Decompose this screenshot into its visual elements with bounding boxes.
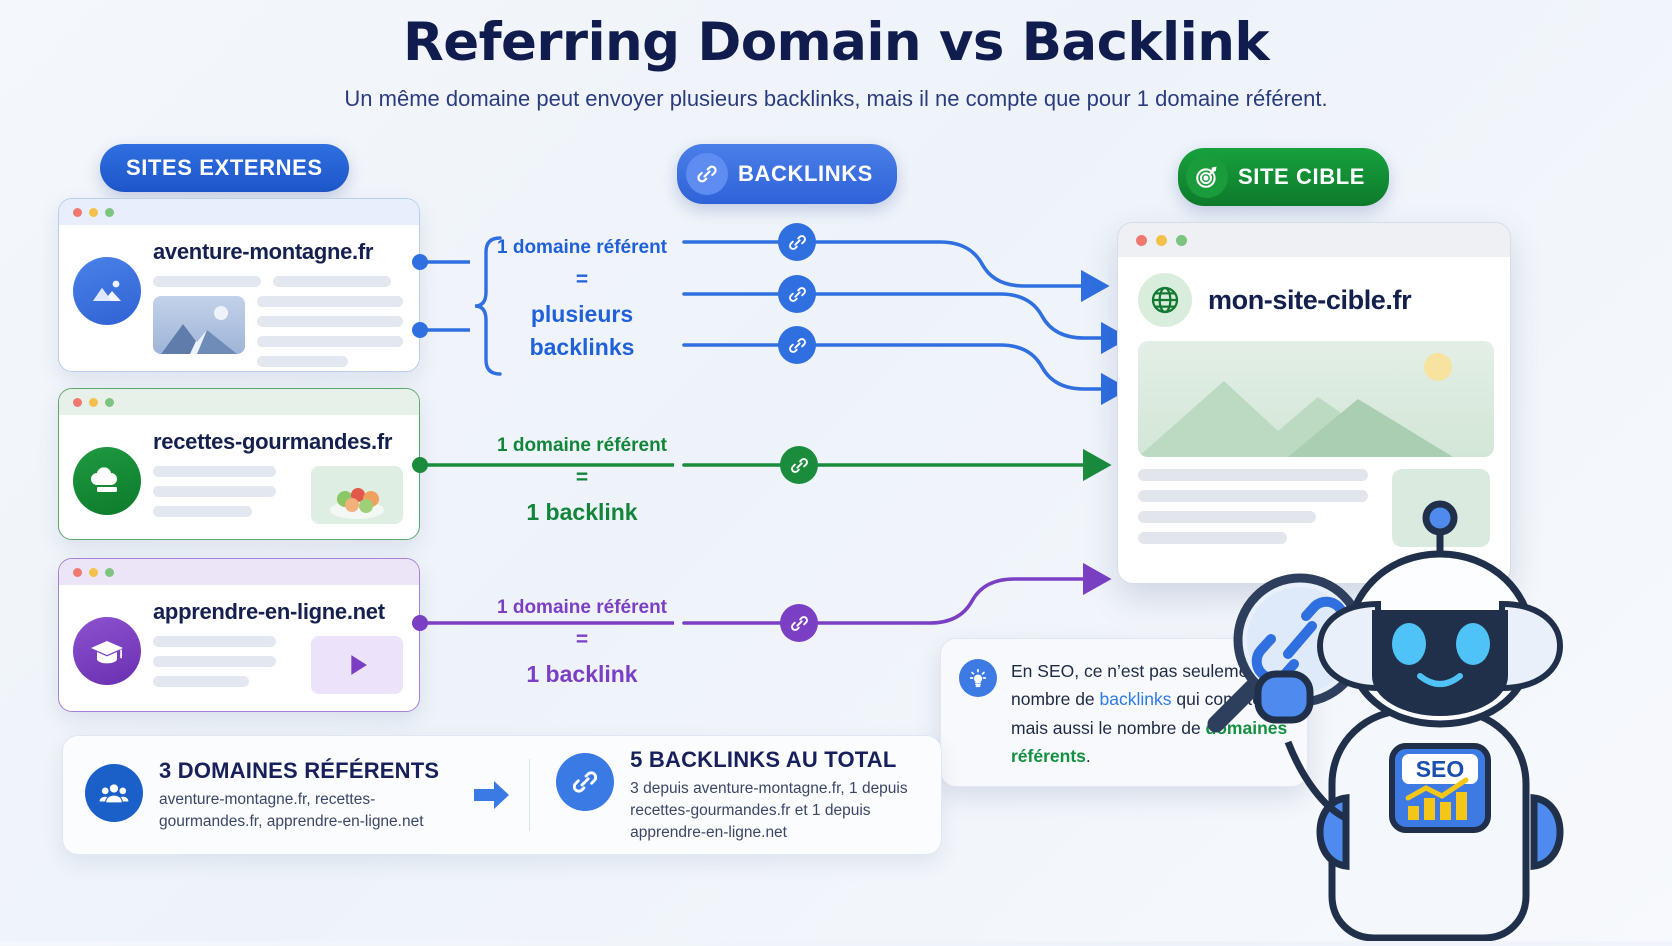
card-titlebar — [59, 389, 419, 415]
relation-label-3: 1 domaine référent = 1 backlink — [472, 594, 692, 691]
tip-keyword-backlinks: backlinks — [1100, 689, 1172, 709]
site-card-apprendre-en-ligne[interactable]: apprendre-en-ligne.net — [58, 558, 420, 712]
window-maximize-dot — [1176, 235, 1187, 246]
relation-top: 1 domaine référent — [472, 234, 692, 262]
chef-hat-icon — [73, 447, 141, 515]
users-icon — [85, 764, 143, 822]
window-maximize-dot — [105, 398, 114, 407]
relation-bottom-1: 1 backlink — [472, 658, 692, 691]
link-icon — [686, 153, 728, 195]
window-close-dot — [73, 568, 82, 577]
summary-divider — [529, 759, 530, 831]
globe-icon — [1138, 273, 1192, 327]
card-titlebar — [59, 559, 419, 585]
backlink-node-1[interactable] — [778, 223, 816, 261]
target-hero-image — [1138, 341, 1494, 457]
window-close-dot — [73, 208, 82, 217]
relation-label-2: 1 domaine référent = 1 backlink — [472, 432, 692, 529]
target-icon — [1186, 156, 1228, 198]
target-site-name: mon-site-cible.fr — [1208, 285, 1411, 316]
tip-keyword-referents: référents — [1011, 746, 1086, 766]
relation-top: 1 domaine référent — [472, 432, 692, 460]
site-name: recettes-gourmandes.fr — [153, 429, 403, 455]
window-minimize-dot — [89, 208, 98, 217]
card-body: apprendre-en-ligne.net — [59, 585, 419, 708]
link-icon — [787, 232, 808, 253]
summary-backlinks-block: 5 BACKLINKS AU TOTAL 3 depuis aventure-m… — [544, 731, 931, 860]
mountain-icon — [73, 257, 141, 325]
tip-line3-a: mais aussi le nombre de — [1011, 718, 1206, 738]
window-minimize-dot — [89, 568, 98, 577]
badge-sites-externes: SITES EXTERNES — [100, 144, 349, 192]
arrow-right-icon — [469, 778, 515, 812]
backlink-node-4[interactable] — [780, 446, 818, 484]
relation-label-1: 1 domaine référent = plusieurs backlinks — [472, 234, 692, 365]
window-maximize-dot — [105, 568, 114, 577]
seo-robot-mascot: SEO — [1196, 498, 1672, 941]
link-icon — [787, 335, 808, 356]
badge-sites-label: SITES EXTERNES — [126, 155, 323, 181]
summary-domains-title: 3 DOMAINES RÉFÉRENTS — [159, 758, 457, 784]
page-title: Referring Domain vs Backlink — [0, 12, 1672, 73]
site-card-aventure-montagne[interactable]: aventure-montagne.fr — [58, 198, 420, 372]
link-icon — [789, 613, 810, 634]
relation-bottom-1: plusieurs — [472, 298, 692, 331]
summary-backlinks-text: 5 BACKLINKS AU TOTAL 3 depuis aventure-m… — [630, 747, 919, 844]
site-name: aventure-montagne.fr — [153, 239, 403, 265]
summary-domains-text: 3 DOMAINES RÉFÉRENTS aventure-montagne.f… — [159, 758, 457, 833]
summary-domains-block: 3 DOMAINES RÉFÉRENTS aventure-montagne.f… — [73, 742, 469, 849]
summary-panel: 3 DOMAINES RÉFÉRENTS aventure-montagne.f… — [62, 735, 942, 855]
badge-backlinks: BACKLINKS — [677, 144, 897, 204]
summary-backlinks-subtitle: 3 depuis aventure-montagne.fr, 1 depuis … — [630, 778, 919, 844]
link-icon — [787, 284, 808, 305]
window-maximize-dot — [105, 208, 114, 217]
site-card-recettes-gourmandes[interactable]: recettes-gourmandes.fr — [58, 388, 420, 540]
relation-equals: = — [472, 265, 692, 295]
card-thumbnail — [311, 466, 403, 524]
card-content: apprendre-en-ligne.net — [153, 599, 403, 696]
target-header: mon-site-cible.fr — [1118, 257, 1510, 337]
window-close-dot — [73, 398, 82, 407]
tip-line4-c: . — [1086, 746, 1091, 766]
link-icon — [789, 455, 810, 476]
link-icon — [556, 753, 614, 811]
relation-bottom-1: 1 backlink — [472, 496, 692, 529]
window-minimize-dot — [89, 398, 98, 407]
relation-equals: = — [472, 625, 692, 655]
window-minimize-dot — [1156, 235, 1167, 246]
window-close-dot — [1136, 235, 1147, 246]
card-content: aventure-montagne.fr — [153, 239, 403, 372]
seo-badge-label: SEO — [1416, 756, 1465, 782]
page-subtitle: Un même domaine peut envoyer plusieurs b… — [0, 86, 1672, 112]
badge-backlinks-label: BACKLINKS — [738, 161, 873, 187]
card-titlebar — [1118, 223, 1510, 257]
card-content: recettes-gourmandes.fr — [153, 429, 403, 526]
card-thumbnail — [153, 296, 245, 354]
site-name: apprendre-en-ligne.net — [153, 599, 403, 625]
lightbulb-icon — [959, 659, 997, 697]
summary-domains-subtitle: aventure-montagne.fr, recettes-gourmande… — [159, 789, 457, 833]
card-body: aventure-montagne.fr — [59, 225, 419, 372]
badge-site-cible: SITE CIBLE — [1178, 148, 1389, 206]
backlink-node-2[interactable] — [778, 275, 816, 313]
backlink-node-3[interactable] — [778, 326, 816, 364]
infographic-canvas: Referring Domain vs Backlink Un même dom… — [0, 0, 1672, 941]
graduation-cap-icon — [73, 617, 141, 685]
video-thumbnail[interactable] — [311, 636, 403, 694]
summary-backlinks-title: 5 BACKLINKS AU TOTAL — [630, 747, 919, 773]
backlink-node-5[interactable] — [780, 604, 818, 642]
card-body: recettes-gourmandes.fr — [59, 415, 419, 538]
badge-cible-label: SITE CIBLE — [1238, 164, 1365, 190]
card-titlebar — [59, 199, 419, 225]
relation-equals: = — [472, 463, 692, 493]
relation-bottom-2: backlinks — [472, 331, 692, 364]
relation-top: 1 domaine référent — [472, 594, 692, 622]
